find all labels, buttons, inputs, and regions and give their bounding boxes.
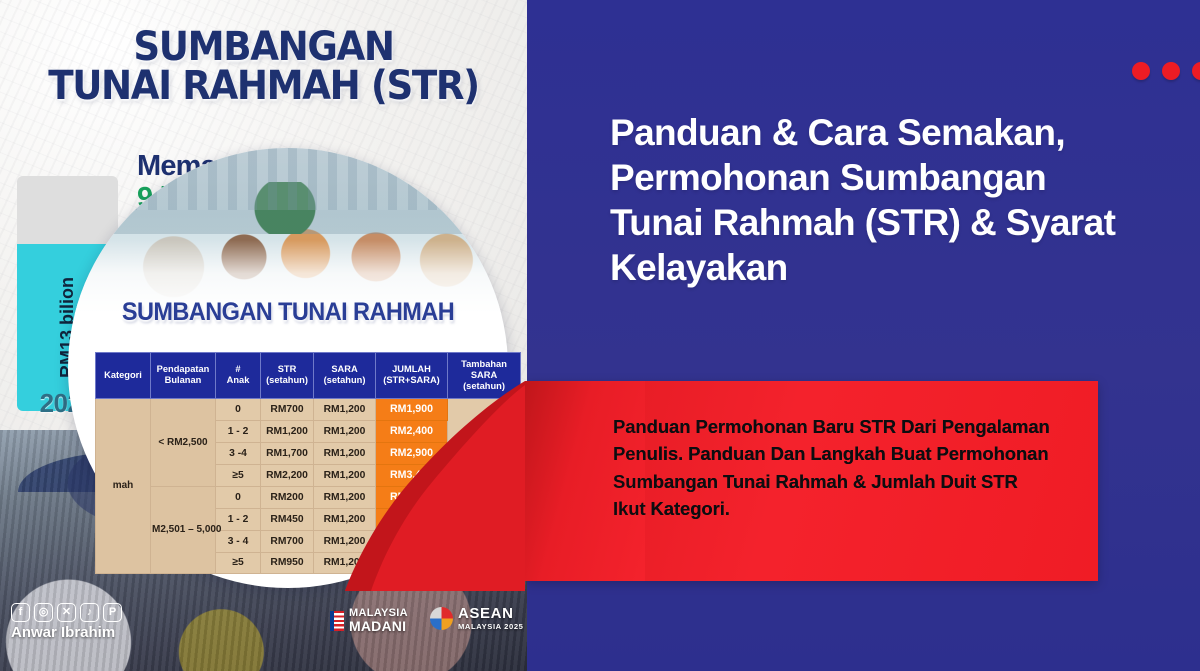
cell-str: RM950 — [261, 552, 314, 573]
asean-text: ASEAN MALAYSIA 2025 — [458, 606, 523, 631]
cell-anak: ≥5 — [216, 552, 261, 573]
subtitle-copy-top: Panduan Permohonan Baru STR Dari Pengala… — [613, 413, 1053, 523]
poster-badge: SUMBANGAN TUNAI RAHMAH — [81, 298, 495, 327]
social-handle: Anwar Ibrahim — [11, 624, 115, 641]
dot-2 — [1162, 62, 1180, 80]
cell-anak: 1 - 2 — [216, 508, 261, 530]
page-title: Panduan & Cara Semakan, Permohonan Sumba… — [610, 110, 1130, 291]
asean-ring-icon — [430, 607, 453, 630]
malaysia-flag-icon — [330, 611, 344, 631]
x-icon[interactable]: ✕ — [57, 603, 76, 622]
cell-str: RM450 — [261, 508, 314, 530]
tree-icon — [253, 182, 317, 234]
screenshot-root: Panduan & Cara Semakan, Permohonan Sumba… — [0, 0, 1200, 671]
cell-anak: ≥5 — [216, 464, 261, 486]
th-kategori: Kategori — [96, 353, 151, 399]
th-pendapatan-bulanan: Pendapatan Bulanan — [151, 353, 216, 399]
cell-anak: 0 — [216, 486, 261, 508]
dot-1 — [1132, 62, 1150, 80]
poster-title: SUMBANGAN TUNAI RAHMAH (STR) — [18, 28, 508, 106]
instagram-icon[interactable]: ◎ — [34, 603, 53, 622]
cell-str: RM700 — [261, 398, 314, 420]
cell-income-2: M2,501 – 5,000 — [151, 486, 216, 573]
cell-anak: 3 - 4 — [216, 530, 261, 552]
cell-str: RM700 — [261, 530, 314, 552]
pinterest-icon[interactable]: P — [103, 603, 122, 622]
cell-str: RM1,200 — [261, 420, 314, 442]
cell-anak: 3 -4 — [216, 442, 261, 464]
malaysia-madani-logo: MALAYSIA MADANI — [330, 608, 408, 633]
tiktok-icon[interactable]: ♪ — [80, 603, 99, 622]
decorative-dots — [1132, 62, 1200, 80]
red-block-curve — [345, 381, 525, 591]
cell-str: RM200 — [261, 486, 314, 508]
th-str: STR (setahun) — [261, 353, 314, 399]
facebook-icon[interactable]: f — [11, 603, 30, 622]
dot-3 — [1192, 62, 1200, 80]
cell-str: RM1,700 — [261, 442, 314, 464]
cell-anak: 0 — [216, 398, 261, 420]
th-anak: # Anak — [216, 353, 261, 399]
cell-anak: 1 - 2 — [216, 420, 261, 442]
cell-kategori: mah — [96, 398, 151, 573]
cell-income-1: < RM2,500 — [151, 398, 216, 486]
cell-str: RM2,200 — [261, 464, 314, 486]
madani-text: MALAYSIA MADANI — [349, 608, 408, 633]
poster-title-line2: TUNAI RAHMAH (STR) — [18, 67, 508, 106]
asean-2025-logo: ASEAN MALAYSIA 2025 — [430, 606, 523, 631]
social-icons: f ◎ ✕ ♪ P — [11, 603, 122, 622]
